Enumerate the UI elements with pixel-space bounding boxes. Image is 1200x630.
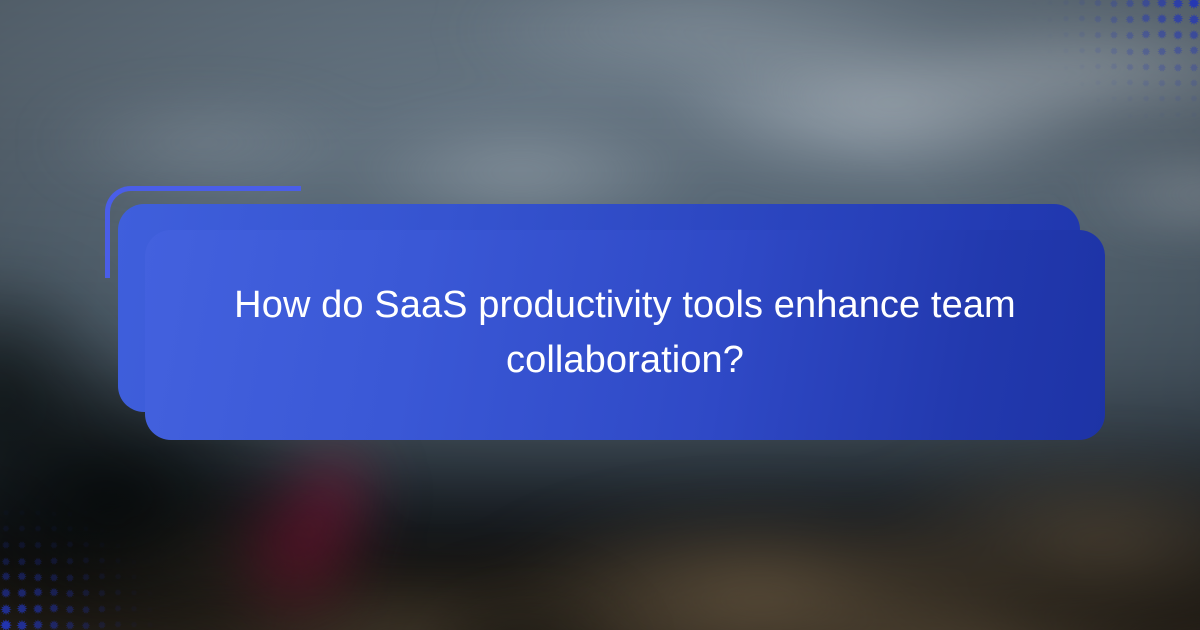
share-card-canvas: ✹✹✹✹✹✹✹✹✹✹✹✹✹✹✹✹✹✹✹✹✹✹✹✹✹✹✹✹✹✹✹✹✹✹✹✹✹✹✹✹…	[0, 0, 1200, 630]
question-headline: How do SaaS productivity tools enhance t…	[145, 278, 1105, 388]
question-card: How do SaaS productivity tools enhance t…	[145, 230, 1105, 440]
question-card-stack: How do SaaS productivity tools enhance t…	[0, 0, 1200, 630]
